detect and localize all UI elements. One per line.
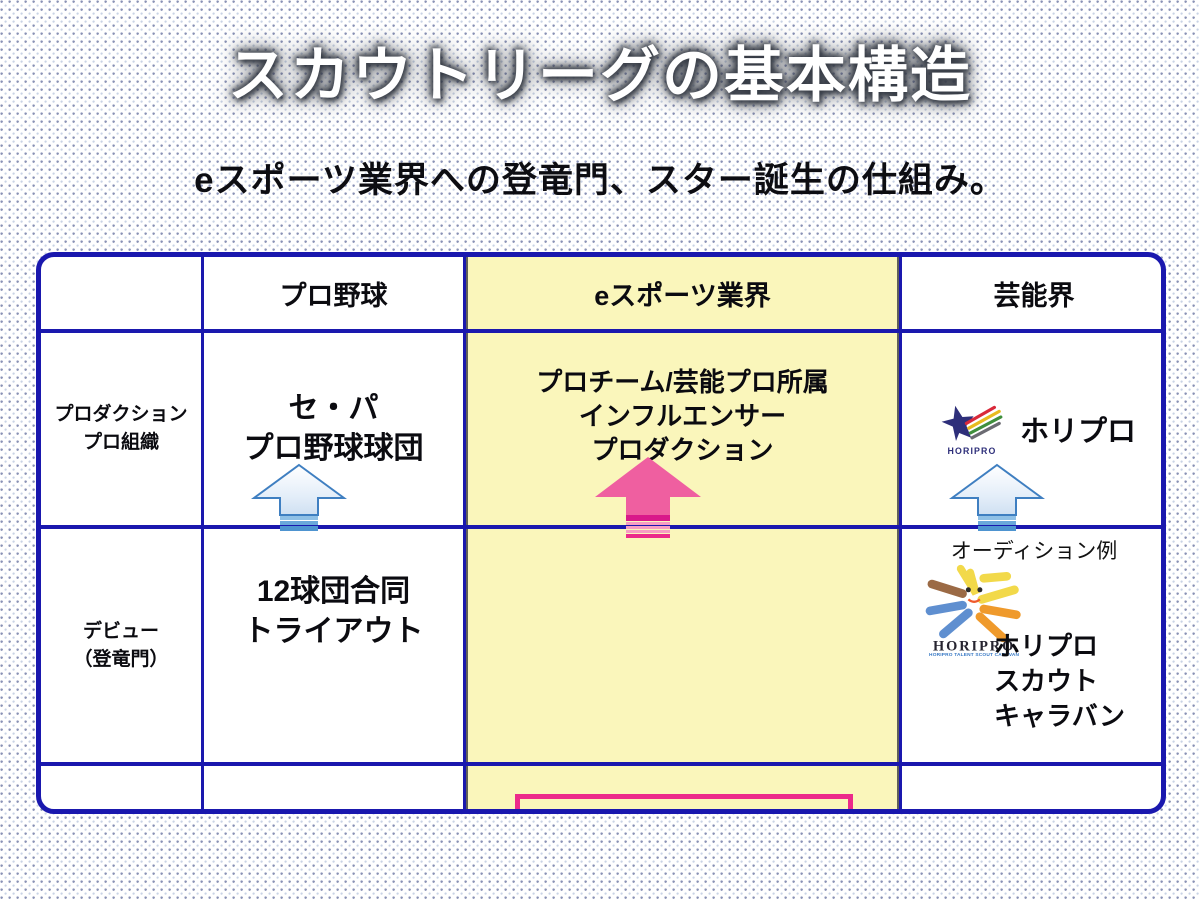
up-arrow-blue-baseball — [251, 462, 347, 534]
horipro-logo-text: HORIPRO — [948, 446, 997, 456]
subtitle-block: eスポーツ業界への登竜門、スター誕生の仕組み。 — [0, 152, 1200, 203]
debut-label-line2: （登竜門） — [73, 646, 168, 674]
up-arrow-blue-entertainment — [949, 462, 1045, 534]
table-header-baseball: プロ野球 — [204, 257, 463, 329]
cell-esports-debut — [466, 529, 899, 762]
horipro-logo-icon: HORIPRO — [932, 401, 1012, 457]
debut-label-line1: デビュー — [73, 618, 168, 646]
row-label-production: プロダクション プロ組織 — [41, 333, 201, 525]
caravan-name-line2: スカウト — [994, 664, 1166, 699]
baseball-production-line1: セ・パ — [244, 389, 424, 429]
caravan-brand-name: ホリプロ スカウト キャラバン — [994, 629, 1166, 734]
page-subtitle: eスポーツ業界への登竜門、スター誕生の仕組み。 — [194, 161, 1006, 200]
slide-canvas: スカウトリーグの基本構造 eスポーツ業界への登竜門、スター誕生の仕組み。 プロ野… — [0, 0, 1200, 900]
esports-production-line1: プロチーム/芸能プロ所属 — [536, 365, 828, 399]
baseball-debut-line1: 12球団合同 — [244, 572, 424, 612]
caravan-name-line3: キャラバン — [994, 699, 1166, 734]
baseball-debut-line2: トライアウト — [244, 612, 424, 652]
esports-production-line2: インフルエンサー — [536, 399, 828, 433]
table-header-esports: eスポーツ業界 — [466, 257, 899, 329]
cell-entertainment-debut: オーディション例 HORIPRO HORIPRO TALENT SCOUT — [902, 529, 1166, 762]
row-label-line2: プロ組織 — [54, 429, 187, 457]
scout-league-panel: ScoutLeague Wonder League トライアウト大会 の定期開催 — [515, 794, 853, 814]
caravan-name-line1: ホリプロ — [994, 629, 1166, 664]
row-divider-2 — [41, 762, 1161, 766]
table-header-corner — [41, 257, 201, 329]
up-arrow-pink-esports — [592, 455, 704, 539]
cell-baseball-debut: 12球団合同 トライアウト — [204, 529, 463, 762]
row-label-debut: デビュー （登竜門） — [41, 529, 201, 762]
title-block: スカウトリーグの基本構造 — [0, 44, 1200, 109]
table-header-entertainment: 芸能界 — [902, 257, 1166, 329]
page-title: スカウトリーグの基本構造 — [228, 44, 972, 109]
row-label-line1: プロダクション — [54, 401, 187, 429]
horipro-brand-name: ホリプロ — [1020, 408, 1136, 450]
